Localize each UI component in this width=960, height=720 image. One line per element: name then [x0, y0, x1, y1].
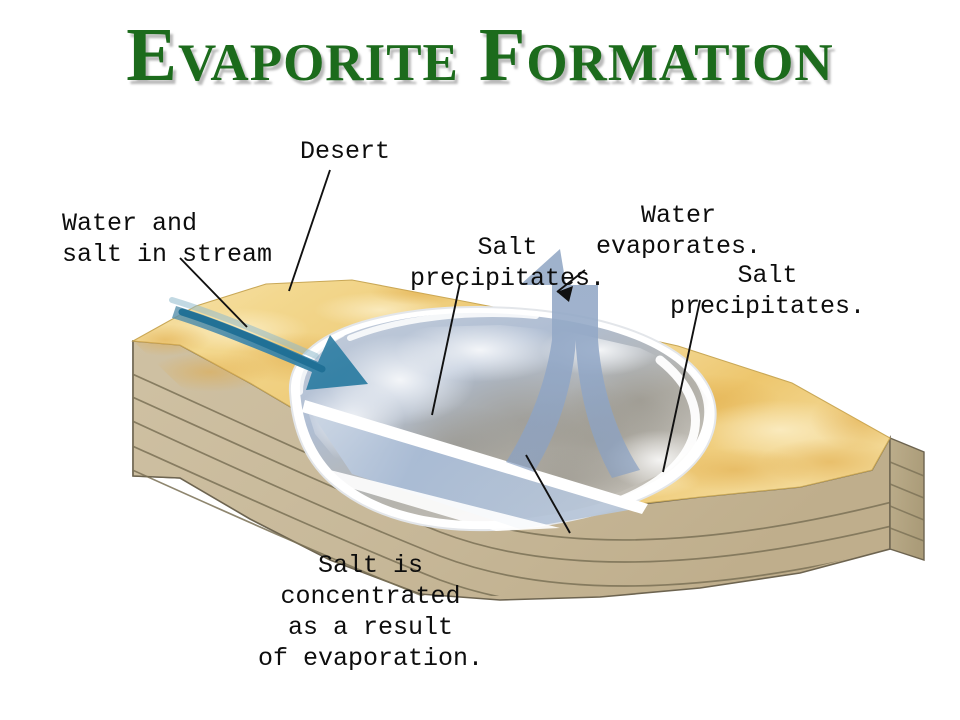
label-water-and-salt-in-stream: Water and salt in stream [62, 208, 272, 270]
label-salt-precipitates-right: Salt precipitates. [670, 260, 865, 322]
label-water-evaporates: Water evaporates. [596, 200, 761, 262]
leader-desert [289, 170, 330, 291]
diagram-canvas: Evaporite Formation [0, 0, 960, 720]
caption-salt-concentrated: Salt is concentrated as a result of evap… [258, 550, 483, 674]
label-salt-precipitates-left: Salt precipitates. [410, 232, 605, 294]
label-desert: Desert [300, 136, 390, 167]
bedrock-right-face [890, 438, 924, 560]
